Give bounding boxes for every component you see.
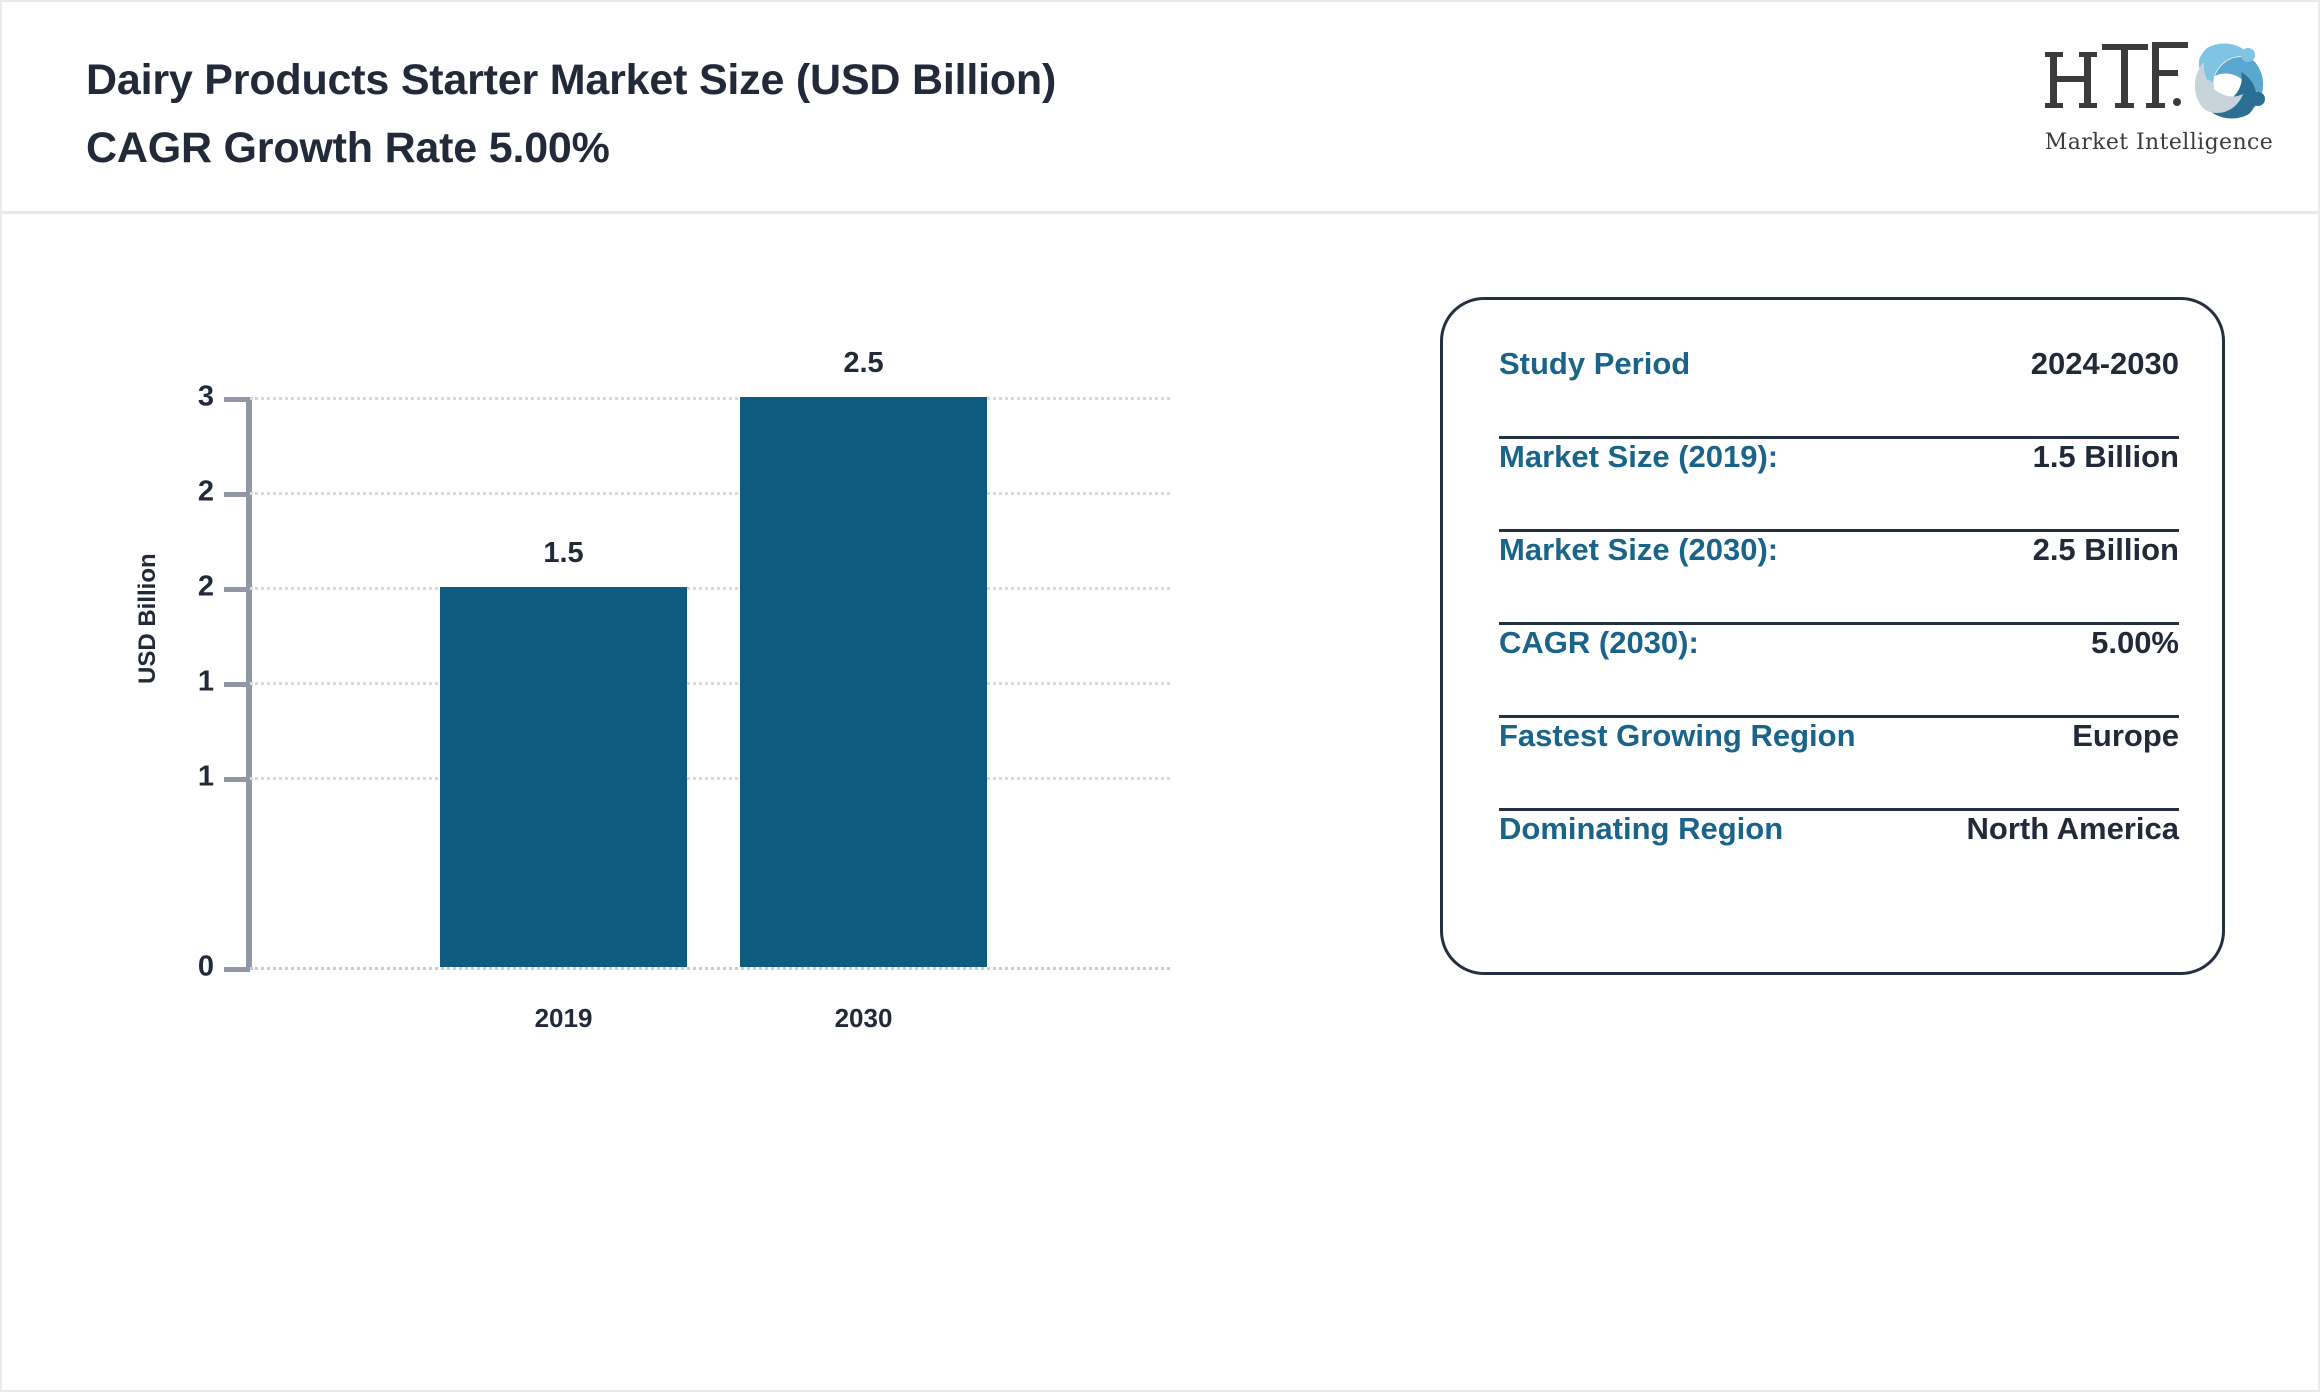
y-tick-label-2: 2 <box>154 573 214 602</box>
y-tick-label-5: 0 <box>154 953 214 982</box>
tick-mark-2p5 <box>224 492 250 497</box>
summary-value-market-size-2019: 1.5 Billion <box>2033 439 2179 475</box>
market-report-infographic: Dairy Products Starter Market Size (USD … <box>0 0 2320 1392</box>
gridline-0 <box>250 967 1170 970</box>
header: Dairy Products Starter Market Size (USD … <box>2 2 2320 214</box>
summary-rows: Study Period 2024-2030 Market Size (2019… <box>1499 346 2179 904</box>
summary-value-dominating-region: North America <box>1967 811 2179 847</box>
title-line-2: CAGR Growth Rate 5.00% <box>86 114 1786 182</box>
summary-value-market-size-2030: 2.5 Billion <box>2033 532 2179 568</box>
y-tick-label-3: 1 <box>154 668 214 697</box>
summary-value-fastest-growing-region: Europe <box>2072 718 2179 754</box>
bar-chart: USD Billion 3 2 2 1 1 0 <box>2 214 1402 1392</box>
gridline-2p5 <box>250 492 1170 495</box>
market-summary-panel: Study Period 2024-2030 Market Size (2019… <box>1440 297 2225 975</box>
y-tick-label-1: 2 <box>154 478 214 507</box>
gridline-3 <box>250 397 1170 400</box>
page-title: Dairy Products Starter Market Size (USD … <box>86 46 1786 182</box>
summary-label-dominating-region: Dominating Region <box>1499 811 1783 847</box>
summary-label-market-size-2019: Market Size (2019): <box>1499 439 1778 475</box>
gridline-1p5 <box>250 682 1170 685</box>
x-label-2030: 2030 <box>740 1005 987 1031</box>
y-tick-label-4: 1 <box>154 763 214 792</box>
summary-label-cagr: CAGR (2030): <box>1499 625 1699 661</box>
x-label-2019: 2019 <box>440 1005 687 1031</box>
summary-row-study-period: Study Period 2024-2030 <box>1499 346 2179 439</box>
logo-mark-icon <box>2044 32 2274 127</box>
bar-value-2019: 1.5 <box>440 539 687 568</box>
tick-mark-1p5 <box>224 682 250 687</box>
htf-logo: Market Intelligence <box>2044 32 2274 157</box>
gridline-1 <box>250 777 1170 780</box>
gridline-2 <box>250 587 1170 590</box>
summary-row-fastest-growing-region: Fastest Growing Region Europe <box>1499 718 2179 811</box>
bar-2019 <box>440 587 687 967</box>
summary-row-dominating-region: Dominating Region North America <box>1499 811 2179 904</box>
summary-value-study-period: 2024-2030 <box>2031 346 2179 382</box>
tick-mark-2 <box>224 587 250 592</box>
summary-row-cagr: CAGR (2030): 5.00% <box>1499 625 2179 718</box>
summary-label-fastest-growing-region: Fastest Growing Region <box>1499 718 1856 754</box>
summary-row-market-size-2019: Market Size (2019): 1.5 Billion <box>1499 439 2179 532</box>
summary-value-cagr: 5.00% <box>2091 625 2179 661</box>
summary-label-market-size-2030: Market Size (2030): <box>1499 532 1778 568</box>
tick-mark-0 <box>224 967 250 972</box>
plot-area: 3 2 2 1 1 0 1.5 2.5 2019 2030 <box>250 397 1170 967</box>
tick-mark-3 <box>224 397 250 402</box>
summary-row-market-size-2030: Market Size (2030): 2.5 Billion <box>1499 532 2179 625</box>
logo-tagline: Market Intelligence <box>2044 130 2274 155</box>
bar-2030 <box>740 397 987 967</box>
tick-mark-1 <box>224 777 250 782</box>
y-tick-label-0: 3 <box>154 383 214 412</box>
title-line-1: Dairy Products Starter Market Size (USD … <box>86 46 1786 114</box>
summary-label-study-period: Study Period <box>1499 346 1690 382</box>
bar-value-2030: 2.5 <box>740 349 987 378</box>
